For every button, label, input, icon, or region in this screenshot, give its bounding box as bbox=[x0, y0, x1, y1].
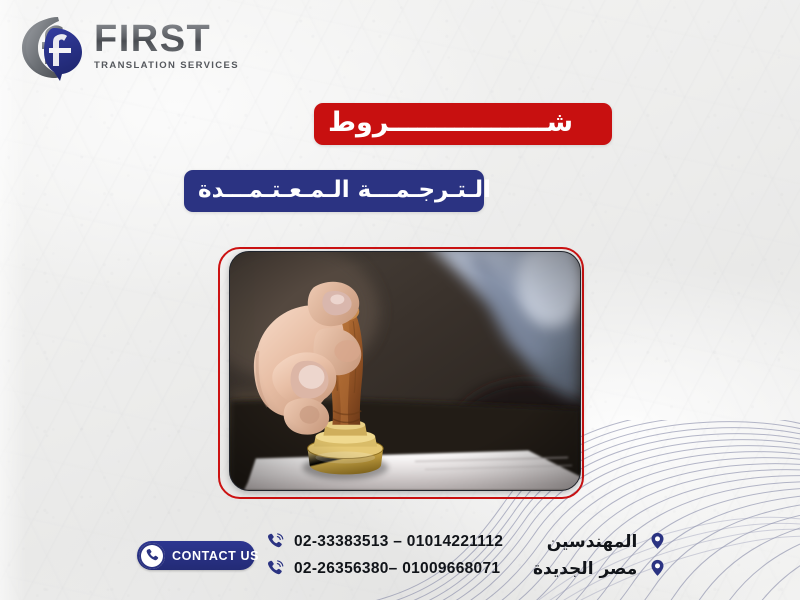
location-list: المهندسين مصر الجديدة bbox=[533, 528, 666, 582]
first-f-monogram-icon bbox=[18, 14, 90, 82]
headline-banner-primary: شـــــــــــــــــروط bbox=[314, 103, 612, 145]
phone-ring-icon bbox=[266, 559, 285, 578]
brand-name: FIRST bbox=[94, 20, 228, 58]
map-pin-icon bbox=[649, 532, 666, 552]
background-light-band bbox=[0, 0, 26, 600]
contact-us-label: CONTACT US bbox=[165, 549, 269, 563]
brand-logo: FIRST TRANSLATION SERVICES bbox=[18, 12, 228, 84]
brand-wordmark: FIRST TRANSLATION SERVICES bbox=[94, 20, 228, 71]
phone-row[interactable]: 02-26356380– 01009668071 bbox=[266, 555, 503, 582]
map-pin-icon bbox=[649, 559, 666, 579]
contact-us-button[interactable]: CONTACT US bbox=[137, 541, 255, 570]
location-name: مصر الجديدة bbox=[533, 559, 649, 579]
location-row[interactable]: المهندسين bbox=[533, 528, 666, 555]
location-row[interactable]: مصر الجديدة bbox=[533, 555, 666, 582]
phone-circle-icon bbox=[139, 543, 165, 569]
phone-ring-icon bbox=[266, 532, 285, 551]
phone-number: 02-26356380– 01009668071 bbox=[285, 560, 500, 578]
phone-list: 02-33383513 – 01014221112 02-26356380– 0… bbox=[266, 528, 503, 582]
hero-image-block bbox=[218, 247, 584, 499]
brand-tagline: TRANSLATION SERVICES bbox=[94, 60, 228, 71]
headline-banner-secondary: الـتـرجـمـــة الـمـعـتـمـــدة bbox=[184, 170, 484, 212]
poster-canvas: FIRST TRANSLATION SERVICES شــــــــــــ… bbox=[0, 0, 800, 600]
phone-row[interactable]: 02-33383513 – 01014221112 bbox=[266, 528, 503, 555]
hero-image bbox=[229, 251, 581, 491]
phone-number: 02-33383513 – 01014221112 bbox=[285, 533, 503, 551]
location-name: المهندسين bbox=[547, 532, 650, 552]
